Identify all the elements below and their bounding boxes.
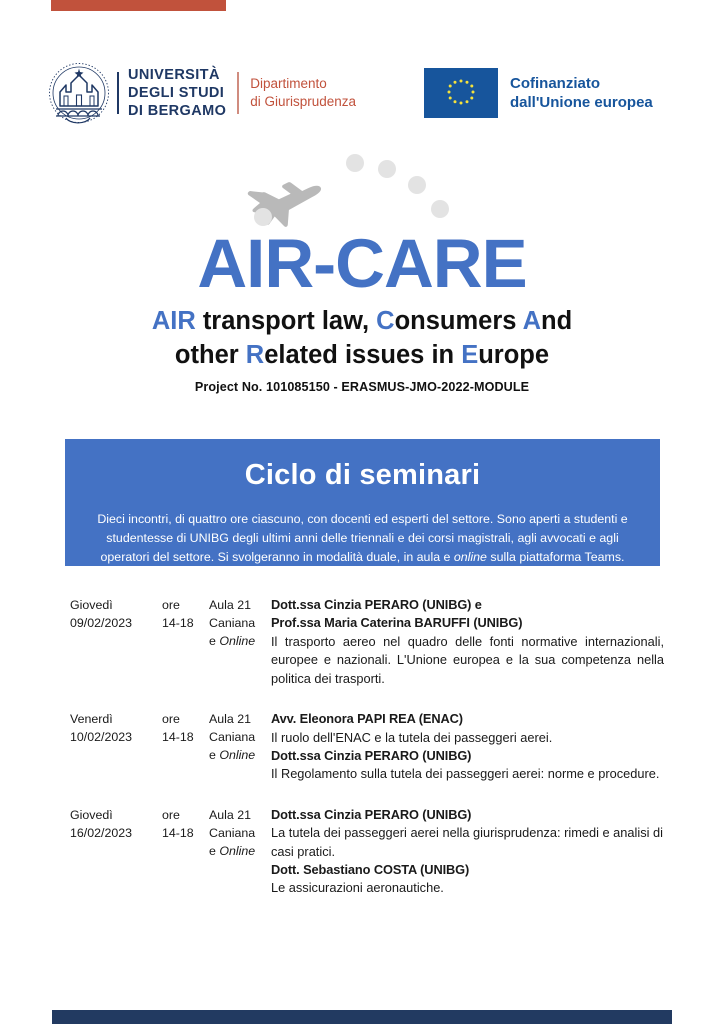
time-value: 14-18 xyxy=(162,826,194,840)
unibg-crest-icon xyxy=(48,62,110,124)
seminar-schedule: Giovedì 09/02/2023 ore 14-18 Aula 21 Can… xyxy=(0,596,724,920)
unibg-name: UNIVERSITÀ DEGLI STUDI DI BERGAMO xyxy=(128,66,226,121)
room-online-label: Online xyxy=(219,844,255,858)
table-row: Giovedì 09/02/2023 ore 14-18 Aula 21 Can… xyxy=(0,596,724,688)
logo-divider-secondary xyxy=(237,72,239,114)
time-value: 14-18 xyxy=(162,730,194,744)
subtitle-line-2: other Related issues in Europe xyxy=(0,339,724,373)
speaker-name: Dott. Sebastiano COSTA (UNIBG) xyxy=(271,861,664,879)
speaker-name: Dott.ssa Cinzia PERARO (UNIBG) xyxy=(271,747,664,765)
eu-cofunding-logo: Cofinanziato dall'Unione europea xyxy=(424,68,653,118)
unibg-name-line2: DEGLI STUDI xyxy=(128,85,224,101)
time-value: 14-18 xyxy=(162,616,194,630)
eu-cofunding-text: Cofinanziato dall'Unione europea xyxy=(510,74,653,113)
seminar-content: Avv. Eleonora PAPI REA (ENAC) Il ruolo d… xyxy=(271,710,664,784)
banner-description: Dieci incontri, di quattro ore ciascuno,… xyxy=(93,510,632,567)
subtitle-line-1: AIR transport law, Consumers And xyxy=(0,305,724,339)
poster-subtitle: AIR transport law, Consumers And other R… xyxy=(0,305,724,373)
seminar-topic: Il trasporto aereo nel quadro delle font… xyxy=(271,633,664,688)
poster-title-block: AIR-CARE AIR transport law, Consumers An… xyxy=(0,228,724,394)
banner-heading: Ciclo di seminari xyxy=(83,459,642,492)
seminar-topic: Le assicurazioni aeronautiche. xyxy=(271,879,664,897)
seminar-location: Aula 21 Caniana e Online xyxy=(209,710,271,764)
seminar-date-value: 10/02/2023 xyxy=(70,730,132,744)
eu-flag-icon xyxy=(424,68,498,118)
banner-description-part2: sulla piattaforma Teams. xyxy=(487,550,625,564)
time-label: ore xyxy=(162,712,180,726)
seminar-time: ore 14-18 xyxy=(162,596,209,632)
seminar-time: ore 14-18 xyxy=(162,710,209,746)
room-line-1: Aula 21 xyxy=(209,712,251,726)
seminar-topic: Il ruolo dell'ENAC e la tutela dei passe… xyxy=(271,729,664,747)
project-number: Project No. 101085150 - ERASMUS-JMO-2022… xyxy=(0,380,724,394)
top-accent-bar xyxy=(51,0,226,11)
table-row: Venerdì 10/02/2023 ore 14-18 Aula 21 Can… xyxy=(0,710,724,784)
room-line-1: Aula 21 xyxy=(209,598,251,612)
seminar-topic: Il Regolamento sulla tutela dei passegge… xyxy=(271,765,664,783)
unibg-logo: UNIVERSITÀ DEGLI STUDI DI BERGAMO Dipart… xyxy=(48,58,356,128)
seminar-date: Giovedì 09/02/2023 xyxy=(70,596,162,632)
seminar-topic: La tutela dei passeggeri aerei nella giu… xyxy=(271,824,664,861)
seminar-content: Dott.ssa Cinzia PERARO (UNIBG) La tutela… xyxy=(271,806,664,898)
seminar-date-value: 09/02/2023 xyxy=(70,616,132,630)
speaker-name: Avv. Eleonora PAPI REA (ENAC) xyxy=(271,710,664,728)
eu-text-line1: Cofinanziato xyxy=(510,75,600,92)
room-line-3-prefix: e xyxy=(209,748,219,762)
time-label: ore xyxy=(162,598,180,612)
room-line-1: Aula 21 xyxy=(209,808,251,822)
room-online-label: Online xyxy=(219,748,255,762)
seminar-date: Giovedì 16/02/2023 xyxy=(70,806,162,842)
unibg-name-line3: DI BERGAMO xyxy=(128,103,226,119)
seminar-location: Aula 21 Caniana e Online xyxy=(209,806,271,860)
seminar-date: Venerdì 10/02/2023 xyxy=(70,710,162,746)
bottom-accent-bar xyxy=(52,1010,672,1024)
page-title: AIR-CARE xyxy=(0,228,724,299)
banner-description-online: online xyxy=(454,550,487,564)
unibg-department: Dipartimento di Giurisprudenza xyxy=(250,75,356,111)
room-line-2: Caniana xyxy=(209,616,255,630)
seminar-weekday: Giovedì xyxy=(70,598,113,612)
time-label: ore xyxy=(162,808,180,822)
seminar-weekday: Giovedì xyxy=(70,808,113,822)
seminar-location: Aula 21 Caniana e Online xyxy=(209,596,271,650)
logo-divider xyxy=(117,72,119,114)
seminar-banner: Ciclo di seminari Dieci incontri, di qua… xyxy=(65,439,660,566)
unibg-name-line1: UNIVERSITÀ xyxy=(128,67,220,83)
seminar-time: ore 14-18 xyxy=(162,806,209,842)
department-line2: di Giurisprudenza xyxy=(250,94,356,109)
speaker-name: Prof.ssa Maria Caterina BARUFFI (UNIBG) xyxy=(271,614,664,632)
department-line1: Dipartimento xyxy=(250,76,327,91)
room-line-3-prefix: e xyxy=(209,634,219,648)
room-line-3-prefix: e xyxy=(209,844,219,858)
logo-row: UNIVERSITÀ DEGLI STUDI DI BERGAMO Dipart… xyxy=(0,58,724,128)
speaker-name: Dott.ssa Cinzia PERARO (UNIBG) e xyxy=(271,596,664,614)
eu-text-line2: dall'Unione europea xyxy=(510,94,653,111)
room-line-2: Caniana xyxy=(209,730,255,744)
room-line-2: Caniana xyxy=(209,826,255,840)
seminar-content: Dott.ssa Cinzia PERARO (UNIBG) e Prof.ss… xyxy=(271,596,664,688)
seminar-weekday: Venerdì xyxy=(70,712,113,726)
table-row: Giovedì 16/02/2023 ore 14-18 Aula 21 Can… xyxy=(0,806,724,898)
room-online-label: Online xyxy=(219,634,255,648)
speaker-name: Dott.ssa Cinzia PERARO (UNIBG) xyxy=(271,806,664,824)
seminar-date-value: 16/02/2023 xyxy=(70,826,132,840)
